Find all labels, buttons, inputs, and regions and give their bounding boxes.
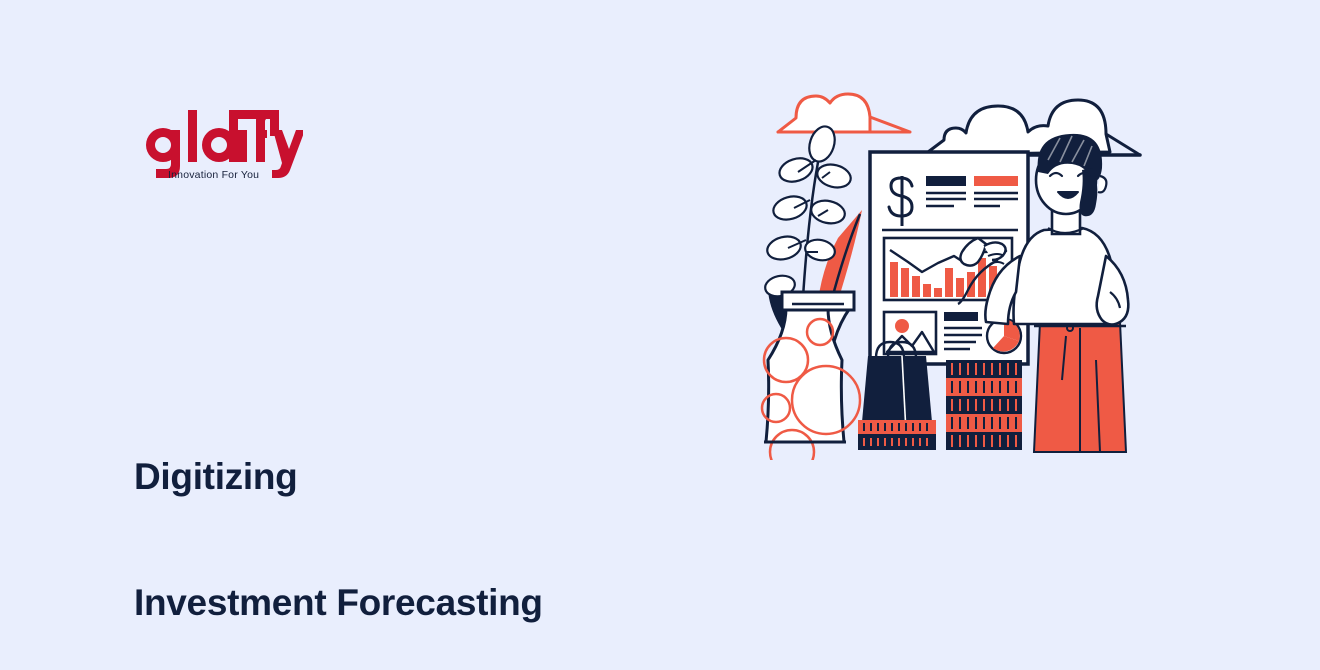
hero-illustration — [748, 60, 1168, 460]
banner-root: Innovation For You Digitizing Investment… — [0, 0, 1320, 670]
presentation-board — [870, 152, 1028, 364]
illustration-svg — [748, 60, 1168, 460]
headline-line-1: Digitizing — [134, 456, 752, 498]
cloud-coral-icon — [778, 94, 910, 132]
header-bar-coral — [974, 176, 1018, 186]
header-bar-navy — [926, 176, 966, 186]
shopping-bag-icon — [858, 342, 936, 450]
money-stack-icon — [946, 360, 1022, 450]
cloud-navy-icon — [924, 100, 1140, 155]
brand-logo[interactable]: Innovation For You — [133, 106, 303, 194]
headline-line-2: Investment Forecasting — [134, 582, 752, 624]
brand-tagline: Innovation For You — [168, 169, 259, 181]
image-placeholder-icon — [884, 312, 936, 354]
page-title: Digitizing Investment Forecasting for an… — [134, 372, 752, 670]
